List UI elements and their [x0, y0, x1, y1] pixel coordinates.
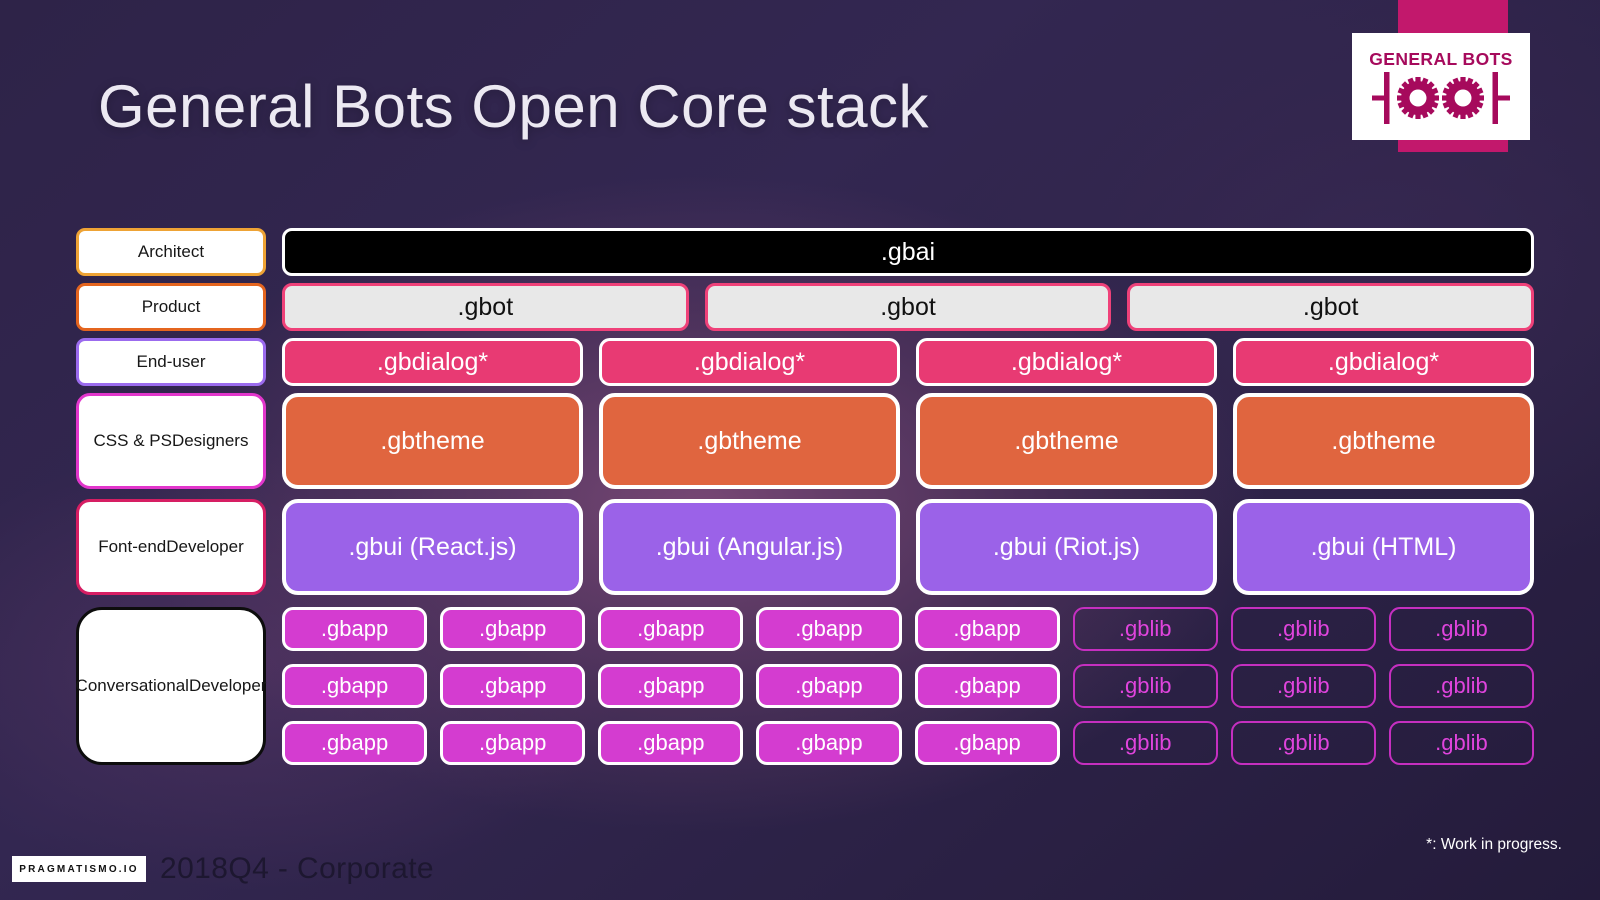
stack-box-gblib[interactable]: .gblib: [1389, 664, 1534, 708]
stack-cell: .gbdialog*: [1233, 338, 1534, 386]
role-cell-end-user: End-user: [76, 338, 266, 386]
stack-row-gbot: Product .gbot .gbot .gbot: [76, 283, 1534, 331]
role-label-line1: Font-end: [98, 537, 166, 558]
role-label-product[interactable]: Product: [76, 283, 266, 331]
stack-box-gbot[interactable]: .gbot: [282, 283, 689, 331]
stack-box-gbdialog[interactable]: .gbdialog*: [599, 338, 900, 386]
stack-cell: .gbapp: [915, 607, 1060, 651]
stack-row-gbui: Font-end Developer .gbui (React.js) .gbu…: [76, 499, 1534, 595]
role-cell-conversational: Conversational Developer: [76, 607, 266, 765]
stack-box-gblib[interactable]: .gblib: [1389, 721, 1534, 765]
stack-cell: .gbui (Riot.js): [916, 499, 1217, 595]
role-label-line1: CSS & PS: [94, 431, 172, 452]
stack-cell: .gbot: [705, 283, 1112, 331]
stack-box-gbapp[interactable]: .gbapp: [598, 664, 743, 708]
stack-row-gbtheme-cells: .gbtheme .gbtheme .gbtheme .gbtheme: [282, 393, 1534, 489]
stack-cell: .gbapp: [282, 721, 427, 765]
stack-box-gbapp[interactable]: .gbapp: [598, 721, 743, 765]
stack-box-gbapp[interactable]: .gbapp: [756, 607, 901, 651]
stack-box-gblib[interactable]: .gblib: [1231, 721, 1376, 765]
stack-diagram: Architect .gbai Product .gbot .gbot: [76, 228, 1534, 765]
role-label-line1: Conversational: [76, 676, 189, 697]
stack-cell: .gbui (React.js): [282, 499, 583, 595]
stack-box-gbapp[interactable]: .gbapp: [915, 721, 1060, 765]
stack-box-gbapp[interactable]: .gbapp: [282, 721, 427, 765]
stack-box-gbapp[interactable]: .gbapp: [915, 664, 1060, 708]
gbapp-gblib-row: .gbapp .gbapp .gbapp .gbapp .gbapp .gbli…: [282, 721, 1534, 765]
footnote-work-in-progress: *: Work in progress.: [1426, 836, 1562, 854]
stack-cell: .gbot: [1127, 283, 1534, 331]
role-cell-designers: CSS & PS Designers: [76, 393, 266, 489]
stack-row-gbot-cells: .gbot .gbot .gbot: [282, 283, 1534, 331]
gbapp-gblib-rows: .gbapp .gbapp .gbapp .gbapp .gbapp .gbli…: [282, 607, 1534, 765]
stack-box-gblib[interactable]: .gblib: [1231, 607, 1376, 651]
role-cell-frontend: Font-end Developer: [76, 499, 266, 595]
stack-cell: .gbapp: [440, 721, 585, 765]
role-cell-architect: Architect: [76, 228, 266, 276]
stack-box-gbapp[interactable]: .gbapp: [440, 721, 585, 765]
pragmatismo-logo: PRAGMATISMO.IO: [12, 856, 146, 882]
stack-cell: .gblib: [1073, 607, 1218, 651]
stack-box-gbtheme[interactable]: .gbtheme: [1233, 393, 1534, 489]
stack-box-gblib[interactable]: .gblib: [1389, 607, 1534, 651]
stack-box-gbapp[interactable]: .gbapp: [756, 721, 901, 765]
stack-box-gblib[interactable]: .gblib: [1073, 721, 1218, 765]
role-label-architect[interactable]: Architect: [76, 228, 266, 276]
stack-cell: .gbapp: [598, 664, 743, 708]
slide-footer: PRAGMATISMO.IO 2018Q4 - Corporate: [12, 852, 434, 886]
stack-cell: .gbot: [282, 283, 689, 331]
stack-box-gbtheme[interactable]: .gbtheme: [282, 393, 583, 489]
stack-cell: .gbapp: [598, 721, 743, 765]
stack-cell: .gbtheme: [916, 393, 1217, 489]
stack-cell: .gbapp: [598, 607, 743, 651]
stack-cell: .gbtheme: [599, 393, 900, 489]
stack-row-gbai: Architect .gbai: [76, 228, 1534, 276]
stack-cell: .gblib: [1389, 664, 1534, 708]
stack-row-gbapp-gblib: Conversational Developer .gbapp .gbapp .…: [76, 607, 1534, 765]
general-bots-logo: GENERAL BOTS: [1398, 0, 1508, 152]
stack-box-gbot[interactable]: .gbot: [705, 283, 1112, 331]
role-cell-product: Product: [76, 283, 266, 331]
gbapp-gblib-row: .gbapp .gbapp .gbapp .gbapp .gbapp .gbli…: [282, 664, 1534, 708]
stack-box-gbapp[interactable]: .gbapp: [440, 607, 585, 651]
stack-row-gbdialog-cells: .gbdialog* .gbdialog* .gbdialog* .gbdial…: [282, 338, 1534, 386]
stack-box-gbapp[interactable]: .gbapp: [598, 607, 743, 651]
pragmatismo-logo-text: PRAGMATISMO.IO: [19, 864, 139, 875]
stack-cell: .gbapp: [915, 721, 1060, 765]
stack-cell: .gbdialog*: [599, 338, 900, 386]
footer-caption: 2018Q4 - Corporate: [160, 852, 434, 886]
role-label-conversational[interactable]: Conversational Developer: [76, 607, 266, 765]
stack-cell: .gblib: [1389, 721, 1534, 765]
stack-box-gbtheme[interactable]: .gbtheme: [916, 393, 1217, 489]
role-label-line2: Developer: [189, 676, 267, 697]
stack-cell: .gbui (Angular.js): [599, 499, 900, 595]
two-gears-icon: [1366, 72, 1516, 124]
gbapp-gblib-row: .gbapp .gbapp .gbapp .gbapp .gbapp .gbli…: [282, 607, 1534, 651]
stack-cell: .gbdialog*: [282, 338, 583, 386]
stack-box-gbtheme[interactable]: .gbtheme: [599, 393, 900, 489]
stack-box-gblib[interactable]: .gblib: [1073, 607, 1218, 651]
stack-box-gbdialog[interactable]: .gbdialog*: [916, 338, 1217, 386]
stack-cell: .gbapp: [440, 664, 585, 708]
stack-cell: .gblib: [1231, 721, 1376, 765]
stack-row-gbai-cells: .gbai: [282, 228, 1534, 276]
stack-box-gbui-html[interactable]: .gbui (HTML): [1233, 499, 1534, 595]
stack-box-gbapp[interactable]: .gbapp: [282, 607, 427, 651]
stack-cell: .gblib: [1231, 664, 1376, 708]
stack-cell: .gbapp: [440, 607, 585, 651]
stack-cell: .gbapp: [915, 664, 1060, 708]
role-label-frontend[interactable]: Font-end Developer: [76, 499, 266, 595]
role-label-line2: Developer: [166, 537, 244, 558]
stack-box-gblib[interactable]: .gblib: [1231, 664, 1376, 708]
stack-cell: .gbapp: [282, 607, 427, 651]
stack-box-gblib[interactable]: .gblib: [1073, 664, 1218, 708]
logo-card: GENERAL BOTS: [1352, 33, 1530, 140]
role-label-line2: Designers: [172, 431, 249, 452]
stack-box-gbapp[interactable]: .gbapp: [440, 664, 585, 708]
stack-row-gbui-cells: .gbui (React.js) .gbui (Angular.js) .gbu…: [282, 499, 1534, 595]
stack-cell: .gbtheme: [1233, 393, 1534, 489]
stack-cell: .gblib: [1073, 664, 1218, 708]
logo-brand-text: GENERAL BOTS: [1369, 49, 1513, 70]
role-label-end-user[interactable]: End-user: [76, 338, 266, 386]
stack-cell: .gbapp: [282, 664, 427, 708]
stack-cell: .gbai: [282, 228, 1534, 276]
stack-row-gbdialog: End-user .gbdialog* .gbdialog* .gbdialog…: [76, 338, 1534, 386]
stack-cell: .gblib: [1231, 607, 1376, 651]
stack-cell: .gbapp: [756, 721, 901, 765]
stack-box-gbapp[interactable]: .gbapp: [756, 664, 901, 708]
page-title: General Bots Open Core stack: [98, 72, 929, 141]
stack-cell: .gbui (HTML): [1233, 499, 1534, 595]
slide-canvas: General Bots Open Core stack GENERAL BOT…: [0, 0, 1600, 900]
stack-row-gbtheme: CSS & PS Designers .gbtheme .gbtheme .gb…: [76, 393, 1534, 489]
stack-box-gbdialog[interactable]: .gbdialog*: [1233, 338, 1534, 386]
stack-box-gbui-riot[interactable]: .gbui (Riot.js): [916, 499, 1217, 595]
stack-box-gbapp[interactable]: .gbapp: [915, 607, 1060, 651]
stack-box-gbui-react[interactable]: .gbui (React.js): [282, 499, 583, 595]
stack-box-gbapp[interactable]: .gbapp: [282, 664, 427, 708]
stack-box-gbdialog[interactable]: .gbdialog*: [282, 338, 583, 386]
stack-box-gbui-angular[interactable]: .gbui (Angular.js): [599, 499, 900, 595]
stack-cell: .gbapp: [756, 607, 901, 651]
stack-cell: .gbapp: [756, 664, 901, 708]
stack-box-gbai[interactable]: .gbai: [282, 228, 1534, 276]
stack-cell: .gbdialog*: [916, 338, 1217, 386]
stack-cell: .gblib: [1389, 607, 1534, 651]
stack-cell: .gblib: [1073, 721, 1218, 765]
stack-box-gbot[interactable]: .gbot: [1127, 283, 1534, 331]
stack-cell: .gbtheme: [282, 393, 583, 489]
role-label-designers[interactable]: CSS & PS Designers: [76, 393, 266, 489]
